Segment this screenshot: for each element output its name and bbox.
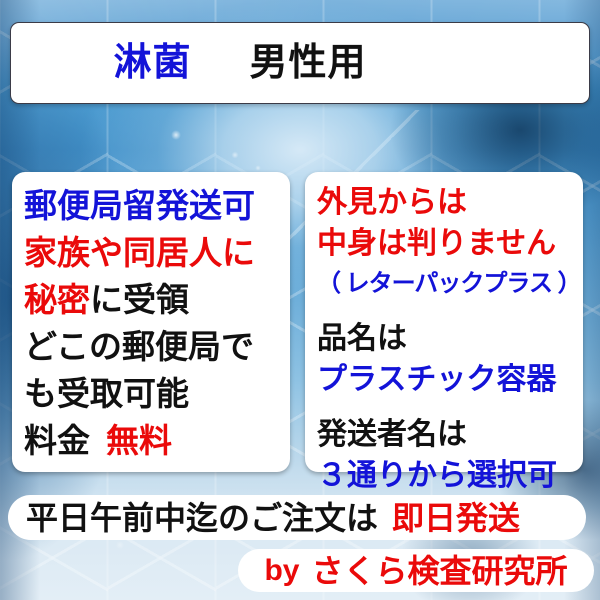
any-post-office-text-1: どこの郵便局で xyxy=(24,330,254,363)
post-office-hold-text: 郵便局留発送可 xyxy=(24,189,255,222)
header-disease-title: 淋菌 xyxy=(113,44,191,82)
item-name-label: 品名は xyxy=(317,324,407,354)
family-text: 家族や同居人に xyxy=(24,236,255,269)
right-line-sender-value: ３通りから選択可 xyxy=(317,455,583,496)
header-gender-title: 男性用 xyxy=(250,44,487,82)
left-line-any-post-office-1: どこの郵便局で xyxy=(24,323,290,370)
item-name-value: プラスチック容器 xyxy=(317,365,556,395)
any-post-office-text-2: も受取可能 xyxy=(24,377,189,410)
promo-banner: 淋菌 男性用 郵便局留発送可 家族や同居人に 秘密に受領 どこの郵便局で も受取… xyxy=(0,0,600,600)
left-line-post-office-hold: 郵便局留発送可 xyxy=(24,182,290,229)
same-day-shipping-highlight: 即日発送 xyxy=(392,502,520,534)
appearance-text-1: 外見からは xyxy=(317,188,467,218)
right-line-sender-label: 発送者名は xyxy=(317,414,583,455)
left-line-secret-receipt: 秘密に受領 xyxy=(24,276,290,323)
shipping-condition-text: 平日午前中迄のご注文は xyxy=(26,502,378,534)
right-panel-spacer-1 xyxy=(317,304,583,318)
company-credit-bar: by さくら検査研究所 xyxy=(238,549,594,592)
receipt-text: に受領 xyxy=(90,283,189,316)
right-panel-spacer-2 xyxy=(317,400,583,414)
fee-label: 料金 xyxy=(24,424,90,457)
letter-pack-plus-note: （ レターパックプラス ） xyxy=(317,272,581,296)
right-line-item-label: 品名は xyxy=(317,318,583,359)
header-panel: 淋菌 男性用 xyxy=(10,22,590,104)
appearance-text-2: 中身は判りません xyxy=(317,229,556,259)
fee-value-free: 無料 xyxy=(106,424,172,457)
right-line-appearance-2: 中身は判りません xyxy=(317,223,583,264)
sender-name-value: ３通りから選択可 xyxy=(317,461,557,491)
by-label: by xyxy=(264,556,299,586)
same-day-shipping-bar: 平日午前中迄のご注文は 即日発送 xyxy=(8,495,586,540)
secret-keyword: 秘密 xyxy=(24,283,90,316)
privacy-info-panel: 外見からは 中身は判りません （ レターパックプラス ） 品名は プラスチック容… xyxy=(305,172,583,472)
left-line-family: 家族や同居人に xyxy=(24,229,290,276)
delivery-info-panel: 郵便局留発送可 家族や同居人に 秘密に受領 どこの郵便局で も受取可能 料金 無… xyxy=(12,172,290,472)
right-line-appearance-1: 外見からは xyxy=(317,182,583,223)
right-line-service-note: （ レターパックプラス ） xyxy=(317,264,583,304)
left-line-fee: 料金 無料 xyxy=(24,417,290,464)
left-line-any-post-office-2: も受取可能 xyxy=(24,370,290,417)
company-name: さくら検査研究所 xyxy=(312,555,568,587)
right-line-item-value: プラスチック容器 xyxy=(317,359,583,400)
sender-name-label: 発送者名は xyxy=(317,420,467,450)
